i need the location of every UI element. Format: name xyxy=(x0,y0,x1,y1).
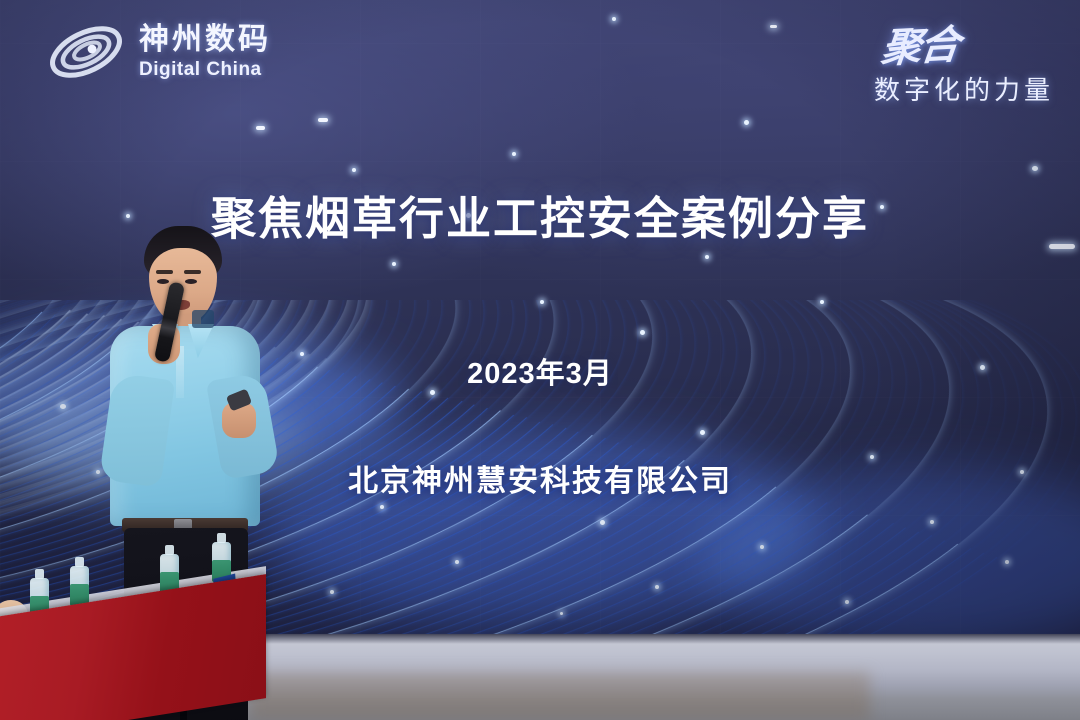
brand-logo: 神州数码 Digital China xyxy=(45,22,271,82)
brand-logo-english: Digital China xyxy=(139,60,271,79)
conference-photo: 神州数码 Digital China 聚合 数字化的力量 聚焦烟草行业工控安全案… xyxy=(0,0,1080,720)
slogan-subtitle: 数字化的力量 xyxy=(874,70,1054,107)
slogan-calligraphy: 聚合 xyxy=(879,12,962,74)
panel-table xyxy=(0,560,300,720)
speaker-eyebrow-right xyxy=(184,270,201,274)
brand-logo-chinese: 神州数码 xyxy=(139,25,271,55)
event-slogan: 聚合 数字化的力量 xyxy=(874,14,1054,107)
shirt-logo-emblem xyxy=(192,310,214,328)
speaker-eyebrow-left xyxy=(156,270,173,274)
speaker-eye-right xyxy=(185,279,197,284)
speaker-eye-left xyxy=(157,279,169,284)
floor-reflection xyxy=(250,672,870,720)
galaxy-swirl-icon xyxy=(45,22,127,82)
